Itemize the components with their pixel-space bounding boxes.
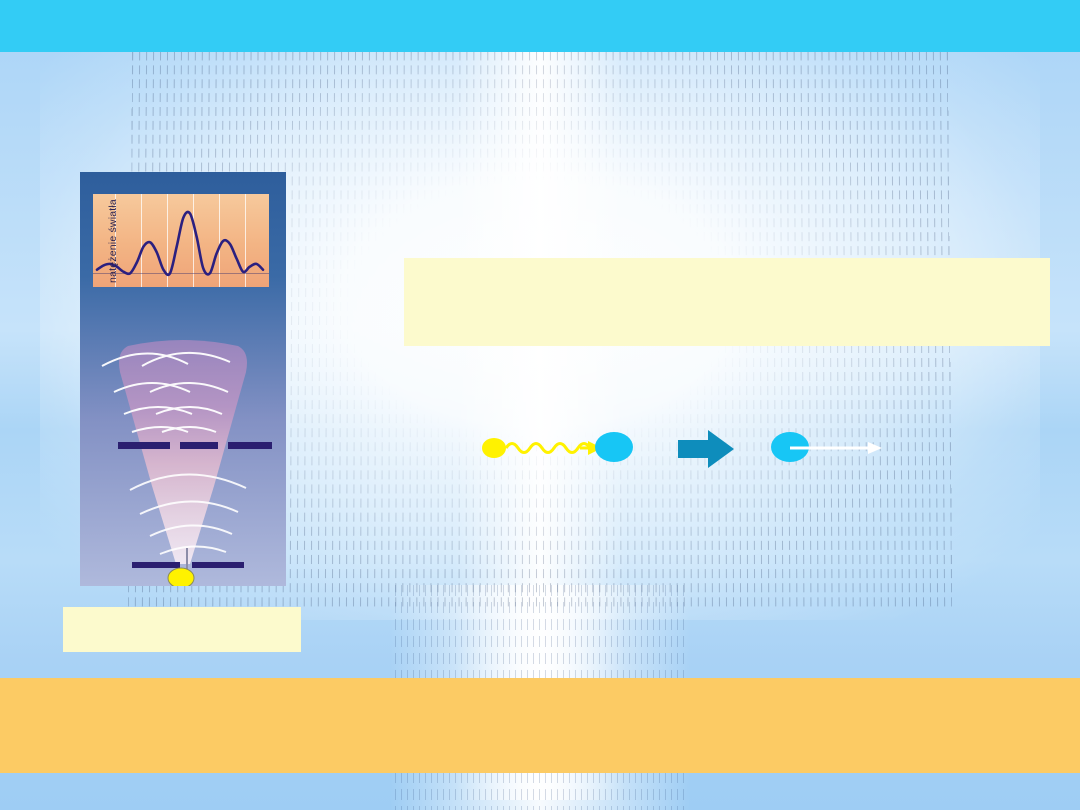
caption-text-box[interactable] <box>63 607 301 652</box>
intensity-chart: natężenie światła <box>93 194 269 287</box>
electron-velocity-head <box>868 442 882 454</box>
double-slit-diagram <box>80 300 286 586</box>
footer-band <box>0 678 1080 773</box>
process-arrow <box>678 430 734 468</box>
chart-y-axis-label: natężenie światła <box>107 199 119 283</box>
photon-wave <box>506 444 590 453</box>
photoelectric-effect-diagram <box>470 418 900 480</box>
intensity-curve <box>93 194 269 287</box>
interference-panel[interactable]: natężenie światła <box>80 172 286 586</box>
electron-at-rest <box>595 432 633 462</box>
beam-cone <box>119 340 247 564</box>
main-text-box[interactable] <box>404 258 1050 346</box>
incoming-photon <box>482 438 506 458</box>
double-slit-barrier <box>118 442 272 449</box>
light-source <box>168 568 194 586</box>
slide-canvas: natężenie światła <box>0 0 1080 810</box>
title-banner <box>0 0 1080 52</box>
